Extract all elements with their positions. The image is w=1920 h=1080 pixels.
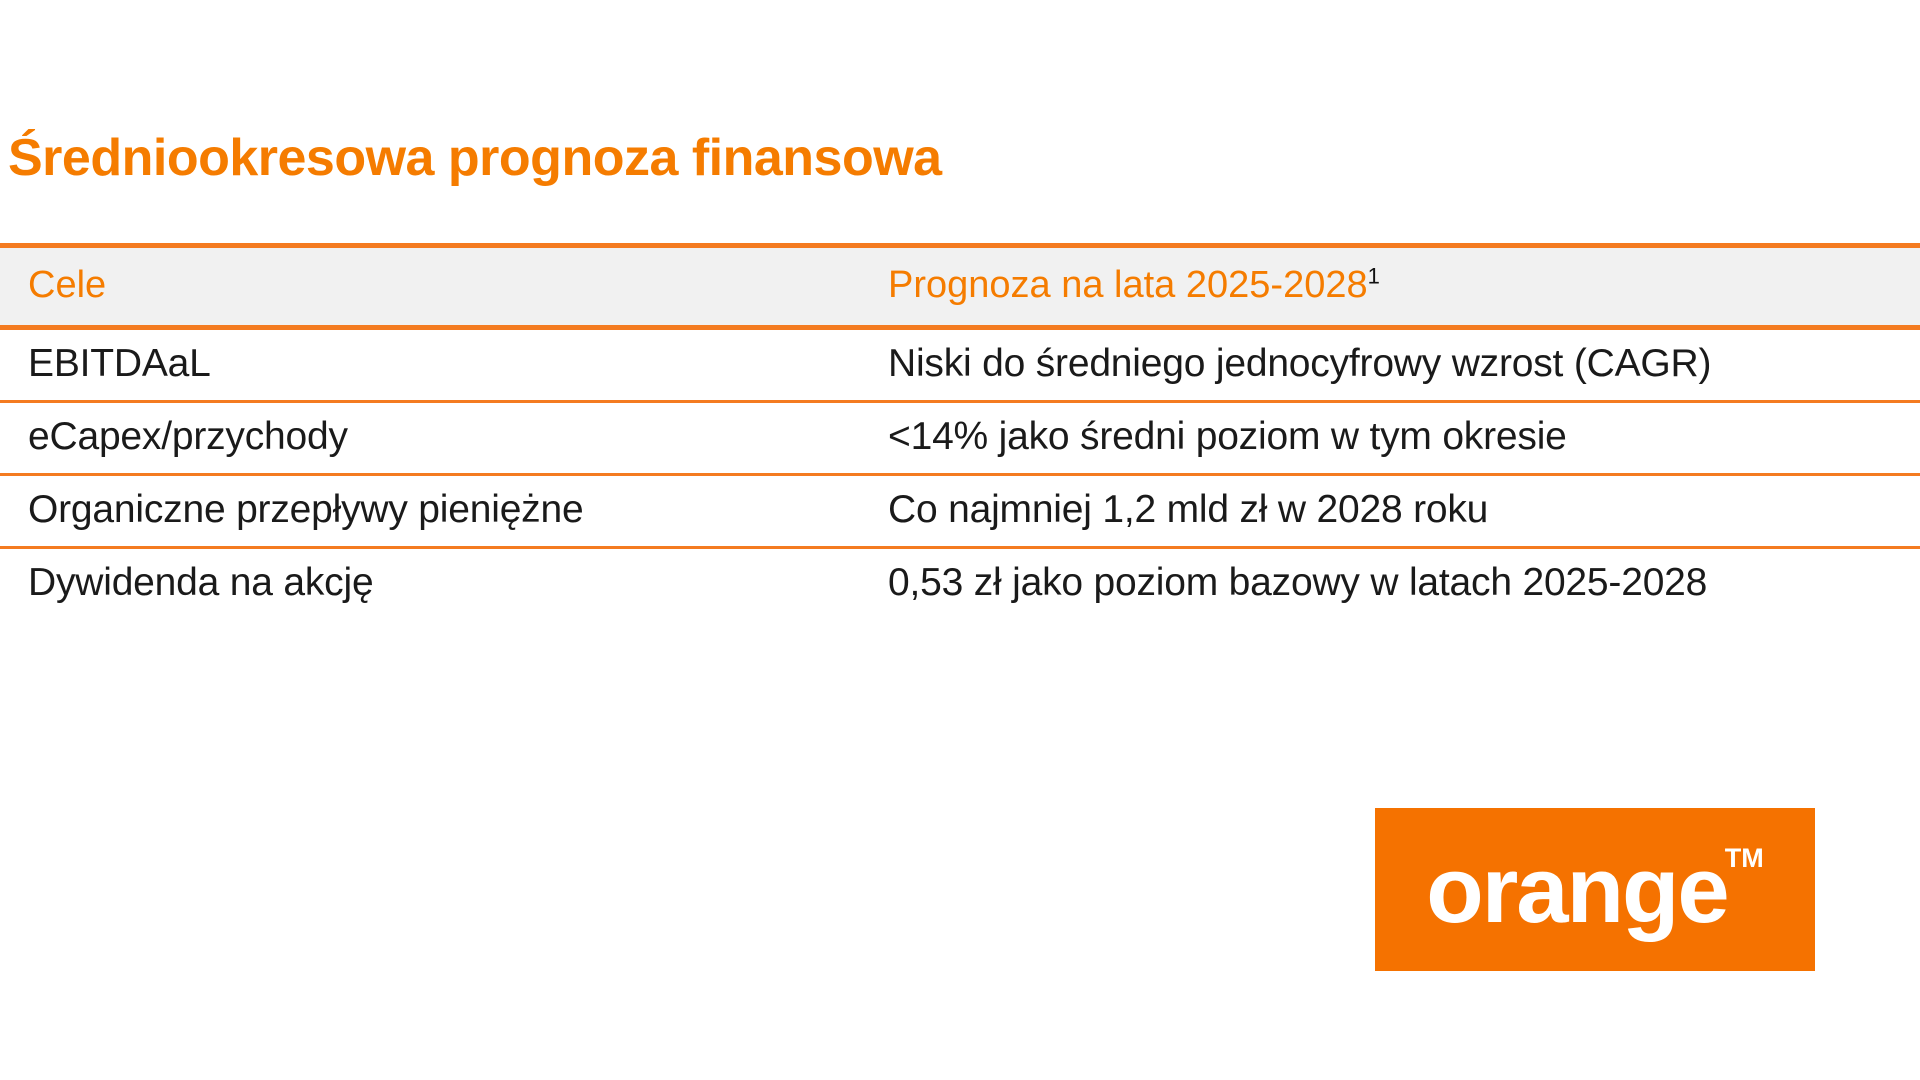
row-goal-ebitdaal: EBITDAaL [0, 328, 860, 402]
table-row: eCapex/przychody <14% jako średni poziom… [0, 402, 1920, 475]
orange-logo-inner: orange TM [1426, 843, 1763, 937]
row-goal-ecapex: eCapex/przychody [0, 402, 860, 475]
table-row: EBITDAaL Niski do średniego jednocyfrowy… [0, 328, 1920, 402]
column-header-forecast: Prognoza na lata 2025-20281 [860, 246, 1920, 328]
table-row: Dywidenda na akcję 0,53 zł jako poziom b… [0, 548, 1920, 620]
row-value-ecapex: <14% jako średni poziom w tym okresie [860, 402, 1920, 475]
row-value-organic-cash-flow: Co najmniej 1,2 mld zł w 2028 roku [860, 475, 1920, 548]
row-goal-dividend-per-share: Dywidenda na akcję [0, 548, 860, 620]
table-body: EBITDAaL Niski do średniego jednocyfrowy… [0, 328, 1920, 620]
row-value-dividend-per-share: 0,53 zł jako poziom bazowy w latach 2025… [860, 548, 1920, 620]
footnote-marker: 1 [1368, 263, 1380, 288]
orange-logo-wordmark: orange [1426, 837, 1727, 942]
row-value-ebitdaal: Niski do średniego jednocyfrowy wzrost (… [860, 328, 1920, 402]
row-goal-organic-cash-flow: Organiczne przepływy pieniężne [0, 475, 860, 548]
financial-forecast-table: Cele Prognoza na lata 2025-20281 EBITDAa… [0, 243, 1920, 619]
orange-logo: orange TM [1375, 808, 1815, 971]
page-title: Średniookresowa prognoza finansowa [8, 128, 942, 188]
table-header: Cele Prognoza na lata 2025-20281 [0, 246, 1920, 328]
table-row: Organiczne przepływy pieniężne Co najmni… [0, 475, 1920, 548]
trademark-icon: TM [1725, 845, 1764, 872]
column-header-forecast-label: Prognoza na lata 2025-2028 [888, 264, 1368, 306]
table-header-row: Cele Prognoza na lata 2025-20281 [0, 246, 1920, 328]
slide-canvas: Średniookresowa prognoza finansowa Cele … [0, 0, 1920, 1080]
column-header-goals-label: Cele [28, 264, 106, 306]
column-header-goals: Cele [0, 246, 860, 328]
